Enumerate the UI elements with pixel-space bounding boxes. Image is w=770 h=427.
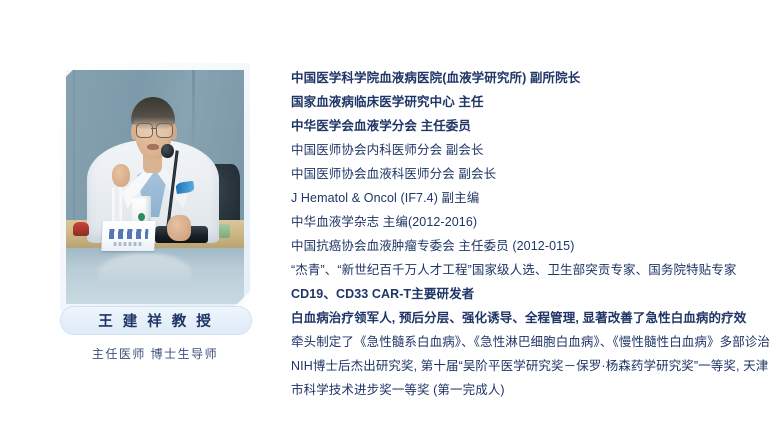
photo-eyeglass-left: [136, 123, 153, 138]
photo-nameplate-sub-text: [113, 242, 143, 246]
portrait-photo-frame: [60, 63, 250, 311]
photo-eyeglass-right: [156, 123, 173, 138]
portrait-photo: [66, 70, 244, 304]
photo-desk-nameplate: [101, 221, 156, 251]
photo-microphone-head: [161, 144, 173, 158]
credential-line: 中华医学会血液学分会 主任委员: [291, 114, 761, 138]
credential-line: NIH博士后杰出研究奖, 第十届“吴阶平医学研究奖－保罗·杨森药学研究奖”一等奖…: [291, 354, 761, 378]
credentials-list: 中国医学科学院血液病医院(血液学研究所) 副所院长国家血液病临床医学研究中心 主…: [291, 66, 761, 402]
credential-line: 市科学技术进步奖一等奖 (第一完成人): [291, 378, 761, 402]
credential-line: 中国医学科学院血液病医院(血液学研究所) 副所院长: [291, 66, 761, 90]
credential-line: 牵头制定了《急性髓系白血病》、《急性淋巴细胞白血病》、《慢性髓性白血病》多部诊治…: [291, 330, 761, 354]
credential-line: CD19、CD33 CAR-T主要研发者: [291, 282, 761, 306]
photo-nameplate-name-text: [109, 229, 148, 239]
photo-wall-seam-left: [73, 70, 75, 220]
credential-line: 白血病治疗领军人, 预后分层、强化诱导、全程管理, 显著改善了急性白血病的疗效: [291, 306, 761, 330]
photo-mouth: [147, 144, 159, 150]
credential-line: 国家血液病临床医学研究中心 主任: [291, 90, 761, 114]
credential-line: 中国抗癌协会血液肿瘤专委会 主任委员 (2012-015): [291, 234, 761, 258]
credential-line: 中国医师协会内科医师分会 副会长: [291, 138, 761, 162]
profile-subtitle: 主任医师 博士生导师: [55, 345, 255, 362]
credential-line: J Hematol & Oncol (IF7.4) 副主编: [291, 186, 761, 210]
photo-eyeglass-bridge: [151, 128, 156, 129]
credential-line: “杰青”、“新世纪百千万人才工程”国家级人选、卫生部突贡专家、国务院特贴专家: [291, 258, 761, 282]
profile-card: 王 建 祥 教 授 主任医师 博士生导师: [55, 25, 255, 380]
credential-line: 中国医师协会血液科医师分会 副会长: [291, 162, 761, 186]
credential-line: 中华血液学杂志 主编(2012-2016): [291, 210, 761, 234]
photo-green-object: [219, 224, 230, 238]
photo-resting-hand: [167, 215, 190, 241]
name-badge: 王 建 祥 教 授: [60, 306, 252, 335]
photo-raised-hand: [112, 164, 130, 187]
photo-red-object: [73, 222, 89, 236]
name-badge-label: 王 建 祥 教 授: [98, 310, 214, 331]
